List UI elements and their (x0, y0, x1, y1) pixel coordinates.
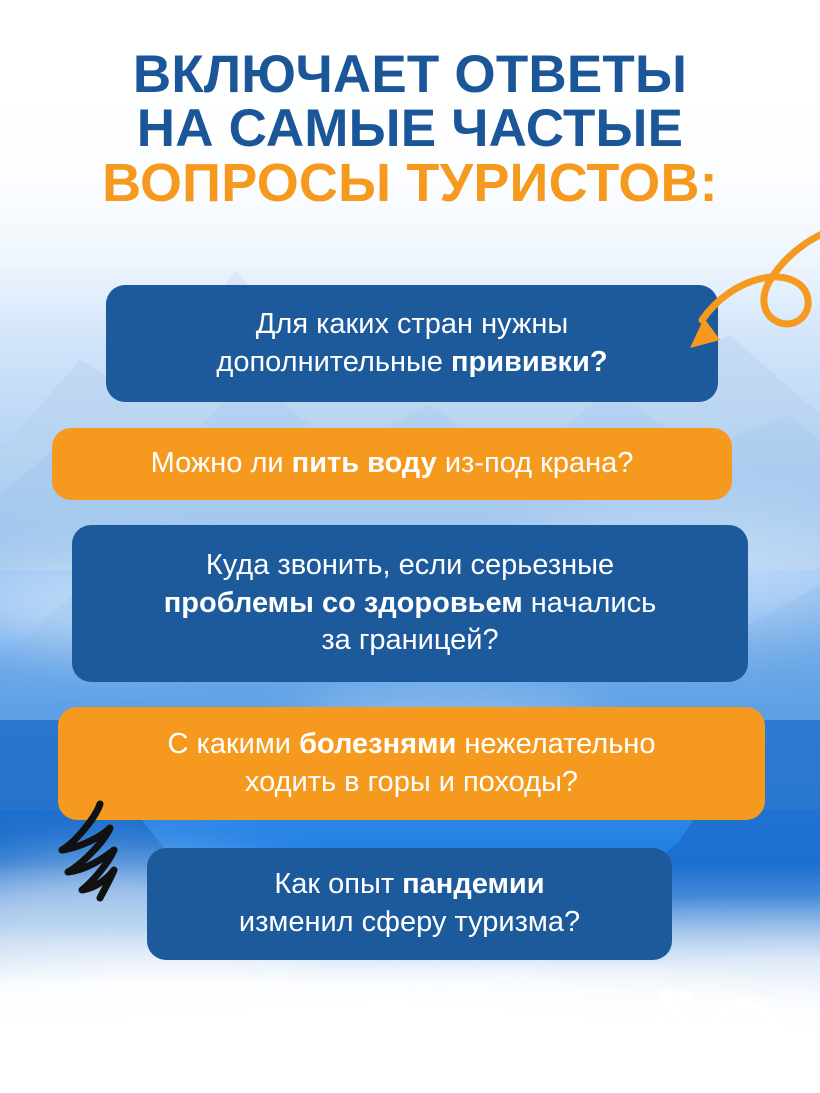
faq-text-highlight: пить воду (292, 447, 437, 479)
faq-text-segment: Куда звонить, если серьезные (206, 549, 614, 581)
faq-text-segment: Можно ли (151, 447, 292, 479)
faq-text-segment: из-под крана? (437, 447, 634, 479)
faq-text-highlight: проблемы со здоровьем (164, 587, 523, 619)
faq-text-segment: Для каких стран нужны (256, 308, 568, 340)
title-line-3: ВОПРОСЫ ТУРИСТОВ: (0, 156, 820, 211)
faq-card-text: Для каких стран нужны дополнительные при… (216, 306, 607, 381)
faq-text-segment: нежелательно (456, 728, 655, 760)
faq-card-tap-water[interactable]: Можно ли пить воду из-под крана? (52, 428, 732, 500)
faq-text-highlight: болезнями (299, 728, 456, 760)
faq-card-vaccinations[interactable]: Для каких стран нужны дополнительные при… (106, 285, 718, 402)
faq-card-pandemic[interactable]: Как опыт пандемии изменил сферу туризма? (147, 848, 672, 960)
faq-card-text: Куда звонить, если серьезные проблемы со… (164, 547, 656, 660)
faq-card-hiking-illness[interactable]: С какими болезнями нежелательно ходить в… (58, 707, 765, 820)
faq-text-highlight: пандемии (402, 868, 544, 900)
poster-canvas: ВКЛЮЧАЕТ ОТВЕТЫ НА САМЫЕ ЧАСТЫЕ ВОПРОСЫ … (0, 0, 820, 1093)
faq-text-segment: начались (523, 587, 657, 619)
page-title: ВКЛЮЧАЕТ ОТВЕТЫ НА САМЫЕ ЧАСТЫЕ ВОПРОСЫ … (0, 48, 820, 211)
faq-text-segment: Как опыт (274, 868, 402, 900)
faq-card-emergency-call[interactable]: Куда звонить, если серьезные проблемы со… (72, 525, 748, 682)
faq-text-segment: дополнительные (216, 346, 451, 378)
faq-text-segment: изменил сферу туризма? (239, 906, 580, 938)
faq-text-segment: С какими (168, 728, 300, 760)
title-line-2: НА САМЫЕ ЧАСТЫЕ (0, 102, 820, 156)
title-line-1: ВКЛЮЧАЕТ ОТВЕТЫ (0, 48, 820, 102)
faq-text-highlight: прививки? (451, 346, 608, 378)
faq-card-text: С какими болезнями нежелательно ходить в… (168, 726, 656, 801)
faq-text-segment: за границей? (321, 624, 498, 656)
faq-card-text: Как опыт пандемии изменил сферу туризма? (239, 866, 580, 941)
faq-text-segment: ходить в горы и походы? (245, 766, 578, 798)
faq-card-text: Можно ли пить воду из-под крана? (151, 445, 634, 483)
